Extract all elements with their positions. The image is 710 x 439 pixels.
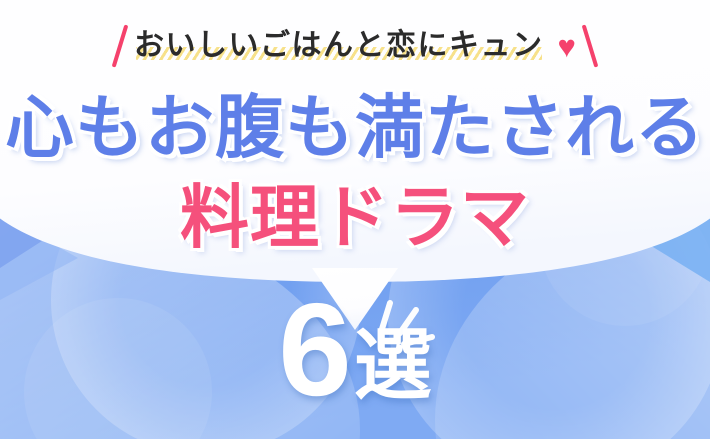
- count-block: 6 選: [0, 289, 710, 410]
- headline-line-2: 料理ドラマ: [0, 183, 710, 252]
- count-unit-label: 選: [354, 326, 432, 404]
- subtitle-row: おいしいごはんと恋にキュン ♥: [0, 24, 710, 68]
- count-number: 6: [278, 289, 349, 410]
- left-slash-icon: [112, 24, 129, 67]
- poster-canvas: おいしいごはんと恋にキュン ♥ 心もお腹も満たされる 料理ドラマ 6 選: [0, 0, 710, 439]
- subtitle-wrap: おいしいごはんと恋にキュン: [134, 29, 544, 63]
- heart-icon: ♥: [558, 31, 576, 62]
- right-slash-icon: [582, 24, 599, 67]
- poster-content: おいしいごはんと恋にキュン ♥ 心もお腹も満たされる 料理ドラマ 6 選: [0, 0, 710, 439]
- subtitle-text: おいしいごはんと恋にキュン: [134, 29, 544, 62]
- headline-line-1: 心もお腹も満たされる: [0, 93, 710, 162]
